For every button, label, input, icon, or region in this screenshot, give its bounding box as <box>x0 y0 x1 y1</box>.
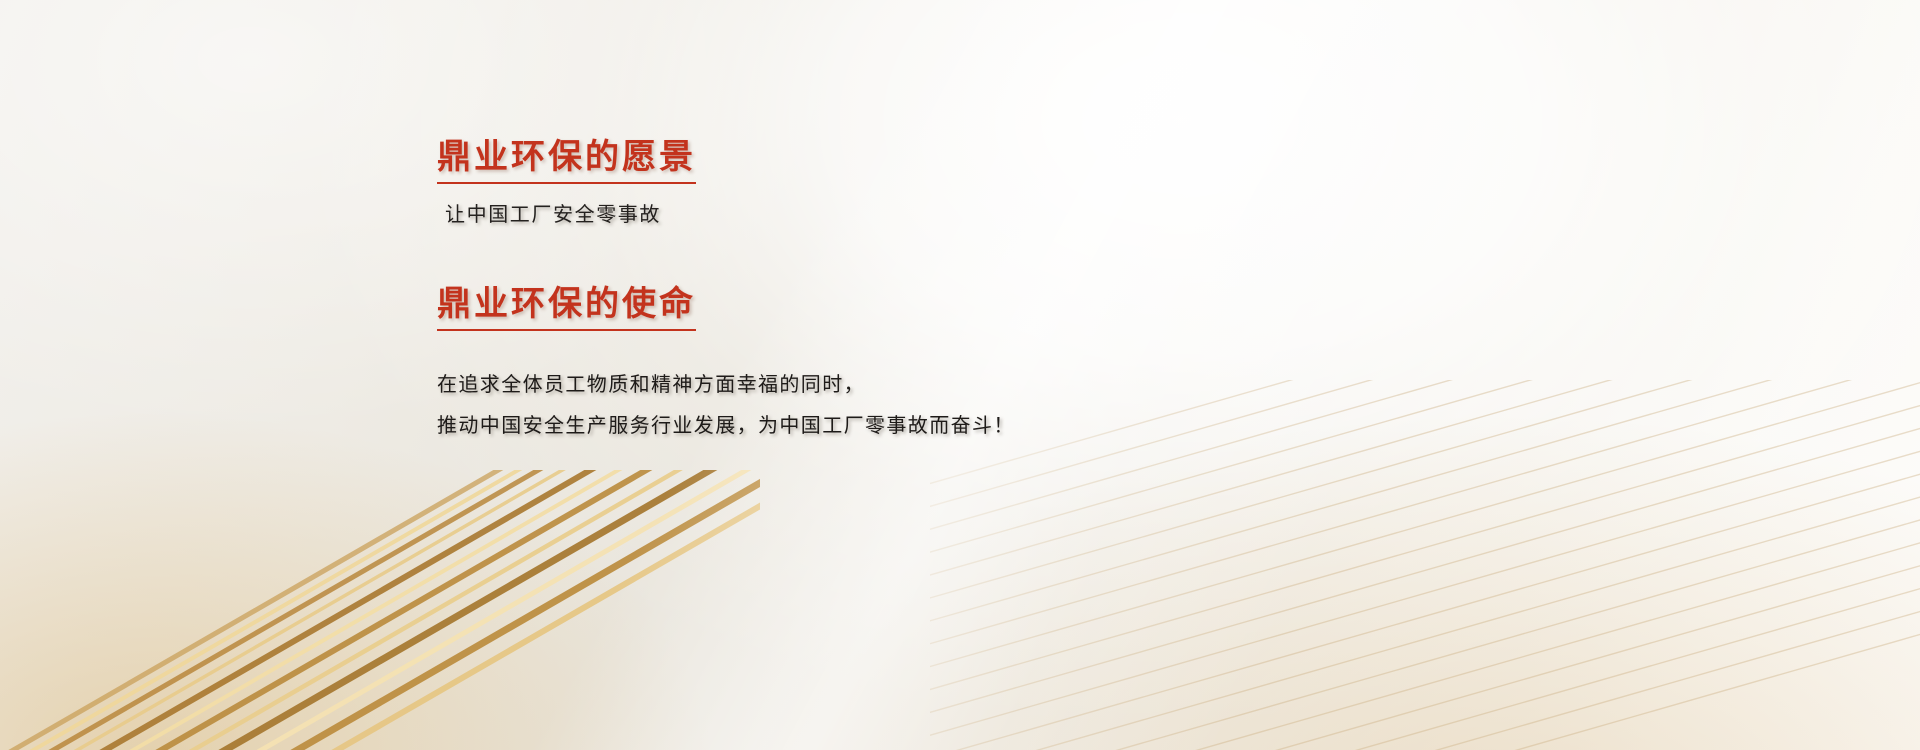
mission-line-1: 在追求全体员工物质和精神方面幸福的同时， <box>437 365 1337 406</box>
vision-section: 鼎业环保的愿景 让中国工厂安全零事故 <box>437 137 1337 229</box>
mission-section: 鼎业环保的使命 在追求全体员工物质和精神方面幸福的同时， 推动中国安全生产服务行… <box>437 284 1337 447</box>
vision-heading: 鼎业环保的愿景 <box>437 137 696 184</box>
mission-heading: 鼎业环保的使命 <box>437 284 696 331</box>
vision-subtitle: 让中国工厂安全零事故 <box>445 201 1337 229</box>
mission-body: 在追求全体员工物质和精神方面幸福的同时， 推动中国安全生产服务行业发展，为中国工… <box>437 365 1337 447</box>
vision-mission-banner: 鼎业环保的愿景 让中国工厂安全零事故 鼎业环保的使命 在追求全体员工物质和精神方… <box>0 0 1920 750</box>
text-content-block: 鼎业环保的愿景 让中国工厂安全零事故 鼎业环保的使命 在追求全体员工物质和精神方… <box>437 137 1337 447</box>
mission-line-2: 推动中国安全生产服务行业发展，为中国工厂零事故而奋斗！ <box>437 406 1337 447</box>
section-spacer <box>437 229 1337 284</box>
